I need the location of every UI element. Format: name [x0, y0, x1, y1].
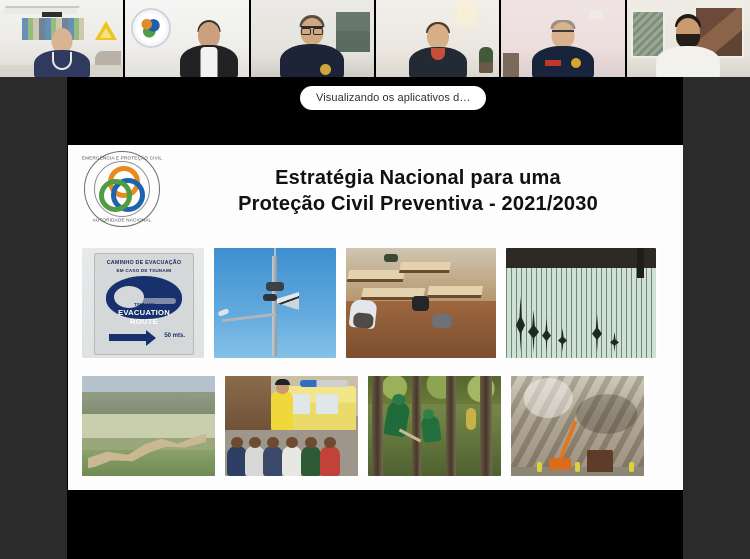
student-under-desk — [432, 314, 452, 328]
shared-slide[interactable]: EMERGÊNCIA E PROTEÇÃO CIVIL AUTORIDADE N… — [68, 145, 683, 490]
truck-window — [316, 394, 338, 414]
tree-trunk — [480, 376, 492, 476]
photo-seismograph-caption: Registo sismográfico — [506, 248, 507, 249]
video-tile-participant-3[interactable]: man with glasses in navy polo shirt — [251, 0, 374, 77]
wall-art-left — [631, 10, 665, 58]
classroom-desk — [347, 270, 406, 282]
child-figure — [320, 446, 340, 476]
wall-lamp — [461, 6, 471, 22]
tsunami-sign-label: TSUNAMI — [95, 302, 193, 307]
poster-heading — [42, 12, 62, 17]
glasses-icon — [552, 30, 574, 37]
tsunami-sign-route-line-2: ROUTE — [95, 317, 193, 326]
tsunami-sign-line-2: EM CASO DE TSUNAMI — [101, 268, 187, 273]
site-hut-shape — [587, 450, 613, 472]
forest-worker-figure — [466, 408, 476, 430]
child-figure — [282, 446, 302, 476]
cabinet-shape — [503, 53, 519, 77]
video-call-screen: man in dark blue shirt in office with wa… — [0, 0, 750, 559]
tsunami-sign-panel: CAMINHO DE EVACUAÇÃO EM CASO DE TSUNAMI … — [94, 253, 194, 355]
seismograph-paper — [506, 268, 656, 358]
tsunami-sign-route-line-1: EVACUATION — [95, 308, 193, 317]
participant-body — [280, 44, 344, 77]
site-worker-figure — [537, 462, 542, 472]
uniform-patch — [545, 60, 561, 66]
building-wall — [225, 376, 271, 430]
participant-body — [656, 46, 720, 77]
photo-rock-stabilisation: Trabalhos de estabilização em vertente r… — [511, 376, 644, 476]
cross-arm-shape — [222, 313, 276, 322]
plant-shape — [479, 47, 493, 73]
hills-shape — [82, 388, 215, 414]
anemometer-cup — [217, 308, 229, 317]
participant-body — [532, 46, 594, 77]
sensor-mid — [263, 294, 277, 301]
photo-classroom-drill: Exercício de sismo numa sala de aula — [346, 248, 496, 358]
emblem-arc-bottom: AUTORIDADE NACIONAL — [93, 218, 152, 223]
rock-face-texture — [511, 376, 644, 476]
photo-forest-management: Equipas de gestão de combustível em flor… — [368, 376, 501, 476]
emblem-arc-text: EMERGÊNCIA E PROTEÇÃO CIVIL AUTORIDADE N… — [84, 151, 160, 227]
wall-lamp — [589, 10, 603, 19]
video-tile-participant-6[interactable]: bearded man in white shirt with wall art… — [627, 0, 750, 77]
photo-row-bottom: Paisagem rural com caminho de corta-fogo — [82, 376, 672, 476]
tree-trunk — [446, 376, 456, 476]
participant-video-strip: man in dark blue shirt in office with wa… — [0, 0, 750, 77]
site-worker-figure — [575, 462, 580, 472]
photo-row-top: CAMINHO DE EVACUAÇÃO EM CASO DE TSUNAMI … — [82, 248, 672, 358]
school-bag — [384, 254, 398, 262]
tsunami-sign-line-1: CAMINHO DE EVACUAÇÃO — [101, 260, 187, 266]
video-tile-participant-5[interactable]: man in navy uniform with badges — [501, 0, 624, 77]
video-tile-participant-4[interactable]: man in dark top with red collar in lit r… — [376, 0, 499, 77]
photo-classroom-drill-caption: Exercício de sismo numa sala de aula — [346, 248, 347, 249]
child-figure — [301, 446, 321, 476]
ceiling-light — [2, 6, 79, 14]
mast-shape — [272, 256, 277, 356]
video-tile-participant-2[interactable]: man in dark jacket and white shirt besid… — [125, 0, 248, 77]
child-figure — [227, 446, 247, 476]
bookshelf-shape — [336, 12, 370, 52]
participant-shirt — [200, 47, 217, 77]
photo-landscape-track-caption: Paisagem rural com caminho de corta-fogo — [82, 376, 83, 377]
photo-weather-station: Estação meteorológica / anemómetro contr… — [214, 248, 336, 358]
wind-vane-shape — [277, 292, 299, 310]
video-tile-participant-1[interactable]: man in dark blue shirt in office with wa… — [0, 0, 123, 77]
participant-head — [427, 24, 449, 49]
photo-landscape-track: Paisagem rural com caminho de corta-fogo — [82, 376, 215, 476]
classroom-desk — [399, 262, 451, 273]
tsunami-sign-distance: 50 mts. — [164, 333, 185, 339]
screen-share-status-label: Visualizando os aplicativos d… — [316, 92, 470, 104]
child-figure — [263, 446, 283, 476]
screen-share-status-pill[interactable]: Visualizando os aplicativos d… — [300, 86, 486, 110]
hazard-sign-inner — [100, 28, 112, 38]
school-bag — [412, 296, 429, 311]
direction-arrow-icon — [109, 334, 147, 341]
photo-weather-station-caption: Estação meteorológica / anemómetro contr… — [214, 248, 215, 249]
sensor-top — [266, 282, 284, 291]
student-taking-cover — [349, 299, 378, 330]
site-worker-figure — [629, 462, 634, 472]
seismograph-arm — [637, 248, 644, 278]
tree-trunk — [372, 376, 383, 476]
photo-firefighter-school: Bombeiro em ação de sensibilização com c… — [225, 376, 358, 476]
children-group — [225, 434, 358, 476]
slide-title: Estratégia Nacional para uma Proteção Ci… — [168, 165, 668, 217]
uniform-emblem — [571, 58, 581, 68]
forest-worker-figure — [420, 415, 441, 443]
slide-photo-grid: CAMINHO DE EVACUAÇÃO EM CASO DE TSUNAMI … — [82, 248, 672, 483]
crane-base-shape — [549, 458, 571, 470]
photo-tsunami-evacuation-sign: CAMINHO DE EVACUAÇÃO EM CASO DE TSUNAMI … — [82, 248, 204, 358]
photo-seismograph: Registo sismográfico — [506, 248, 656, 358]
firefighter-figure — [271, 392, 293, 430]
slide-title-line-2: Proteção Civil Preventiva - 2021/2030 — [168, 191, 668, 217]
emergency-lightbar — [300, 380, 348, 387]
tree-trunk — [412, 376, 421, 476]
emblem-arc-top: EMERGÊNCIA E PROTEÇÃO CIVIL — [82, 156, 162, 161]
slide-title-line-1: Estratégia Nacional para uma — [275, 167, 561, 189]
child-figure — [245, 446, 265, 476]
anepc-emblem-icon: EMERGÊNCIA E PROTEÇÃO CIVIL AUTORIDADE N… — [84, 151, 160, 227]
classroom-desk — [427, 286, 483, 298]
glasses-icon — [301, 26, 323, 33]
